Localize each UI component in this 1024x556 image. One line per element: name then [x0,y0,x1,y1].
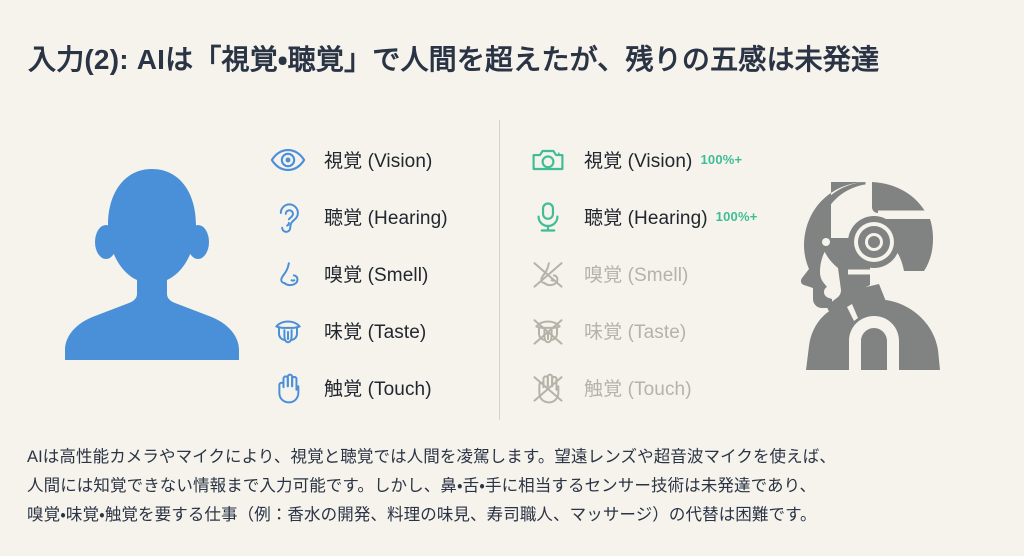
sense-label: 触覚 (Touch) [324,374,432,401]
sense-row-smell-ai: 嗅覚 (Smell) [528,245,758,302]
eye-icon [268,140,308,180]
sense-row-hearing-ai: 聴覚 (Hearing) 100%+ [528,188,758,245]
sense-label: 視覚 (Vision) [584,146,692,173]
status-badge: 100%+ [716,209,758,224]
sense-label: 聴覚 (Hearing) [324,203,448,230]
body-line-1: AIは高性能カメラやマイクにより、視覚と聴覚では人間を凌駕します。望遠レンズや超… [27,443,1005,472]
sense-label: 嗅覚 (Smell) [324,260,428,287]
sense-row-smell-human: 嗅覚 (Smell) [268,245,448,302]
sense-row-vision-human: 視覚 (Vision) [268,131,448,188]
sense-row-touch-ai: 触覚 (Touch) [528,359,758,416]
ai-sense-list: 視覚 (Vision) 100%+ 聴覚 (Hearing) 100%+ [528,131,758,416]
human-silhouette [62,168,242,360]
tongue-disabled-icon [528,311,568,351]
body-paragraph: AIは高性能カメラやマイクにより、視覚と聴覚では人間を凌駕します。望遠レンズや超… [27,443,1005,530]
sense-row-touch-human: 触覚 (Touch) [268,359,448,416]
sense-label: 味覚 (Taste) [324,317,426,344]
nose-icon [268,254,308,294]
sense-label: 視覚 (Vision) [324,146,432,173]
human-sense-list: 視覚 (Vision) 聴覚 (Hearing) 嗅覚 (Smell) [268,131,448,416]
sense-row-vision-ai: 視覚 (Vision) 100%+ [528,131,758,188]
hand-icon [268,368,308,408]
sense-label: 聴覚 (Hearing) [584,203,708,230]
body-line-2: 人間には知覚できない情報まで入力可能です。しかし、鼻・舌・手に相当するセンサー技… [27,472,1005,501]
sense-label: 触覚 (Touch) [584,374,692,401]
nose-disabled-icon [528,254,568,294]
status-badge: 100%+ [700,152,742,167]
slide-root: 入力(2): AIは「視覚・聴覚」で人間を超えたが、残りの五感は未発達 [0,0,1024,556]
body-line-3: 嗅覚・味覚・触覚を要する仕事（例：香水の開発、料理の味見、寿司職人、マッサージ）… [27,501,1005,530]
robot-head-silhouette [790,180,954,370]
sense-label: 嗅覚 (Smell) [584,260,688,287]
sense-row-taste-human: 味覚 (Taste) [268,302,448,359]
sense-label: 味覚 (Taste) [584,317,686,344]
microphone-icon [528,197,568,237]
sense-row-hearing-human: 聴覚 (Hearing) [268,188,448,245]
page-title: 入力(2): AIは「視覚・聴覚」で人間を超えたが、残りの五感は未発達 [28,41,879,79]
ear-icon [268,197,308,237]
hand-disabled-icon [528,368,568,408]
tongue-icon [268,311,308,351]
column-divider [499,120,500,420]
sense-row-taste-ai: 味覚 (Taste) [528,302,758,359]
camera-icon [528,140,568,180]
